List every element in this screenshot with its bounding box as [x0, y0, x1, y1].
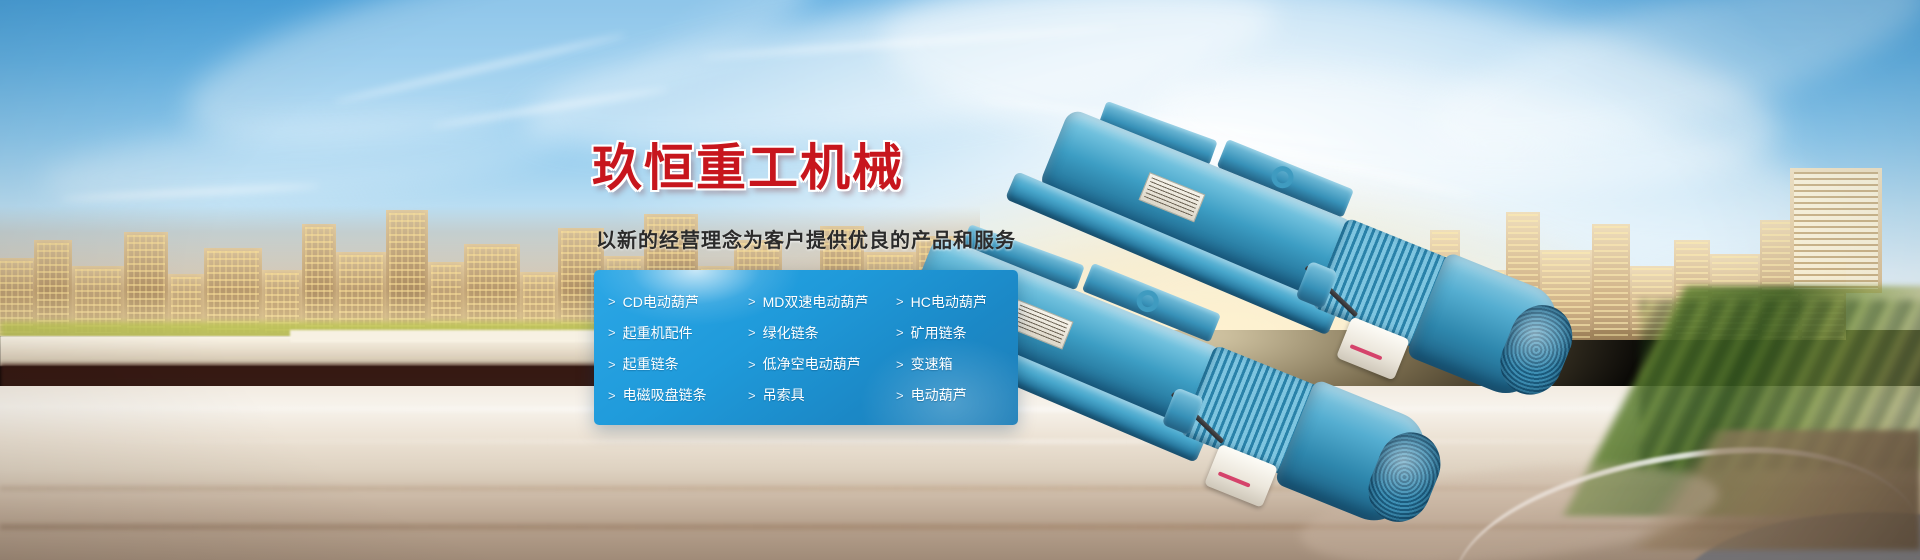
chevron-right-icon: > [896, 389, 904, 402]
product-link[interactable]: >绿化链条 [748, 323, 896, 343]
product-link[interactable]: >电动葫芦 [896, 385, 1018, 405]
chevron-right-icon: > [608, 326, 616, 339]
product-link[interactable]: >电磁吸盘链条 [608, 385, 748, 405]
product-link-label: 矿用链条 [911, 323, 967, 343]
product-link[interactable]: >CD电动葫芦 [608, 292, 748, 312]
product-link-label: 吊索具 [763, 385, 805, 405]
chevron-right-icon: > [748, 358, 756, 371]
product-link[interactable]: >低净空电动葫芦 [748, 354, 896, 374]
product-link-label: 低净空电动葫芦 [763, 354, 861, 374]
product-link-label: 电磁吸盘链条 [623, 385, 707, 405]
product-link-label: 绿化链条 [763, 323, 819, 343]
chevron-right-icon: > [608, 358, 616, 371]
product-link[interactable]: >MD双速电动葫芦 [748, 292, 896, 312]
chevron-right-icon: > [608, 295, 616, 308]
chevron-right-icon: > [748, 326, 756, 339]
product-link[interactable]: >变速箱 [896, 354, 1018, 374]
product-link[interactable]: >HC电动葫芦 [896, 292, 1018, 312]
product-link-label: MD双速电动葫芦 [763, 292, 869, 312]
product-links-grid: >CD电动葫芦>MD双速电动葫芦>HC电动葫芦>起重机配件>绿化链条>矿用链条>… [594, 270, 1018, 425]
product-link-label: 起重机配件 [623, 323, 693, 343]
product-link-label: 起重链条 [623, 354, 679, 374]
product-link[interactable]: >起重链条 [608, 354, 748, 374]
banner-subtitle: 以新的经营理念为客户提供优良的产品和服务 [596, 224, 1016, 253]
product-link[interactable]: >吊索具 [748, 385, 896, 405]
product-link-label: HC电动葫芦 [911, 292, 987, 312]
product-link[interactable]: >矿用链条 [896, 323, 1018, 343]
chevron-right-icon: > [748, 389, 756, 402]
product-link-label: 变速箱 [911, 354, 953, 374]
product-link-label: 电动葫芦 [911, 385, 967, 405]
chevron-right-icon: > [748, 295, 756, 308]
banner-title: 玖恒重工机械 [592, 142, 904, 195]
product-link[interactable]: >起重机配件 [608, 323, 748, 343]
product-links-panel: >CD电动葫芦>MD双速电动葫芦>HC电动葫芦>起重机配件>绿化链条>矿用链条>… [594, 270, 1018, 425]
chevron-right-icon: > [896, 326, 904, 339]
high-rise-tower [1790, 168, 1882, 293]
chevron-right-icon: > [608, 389, 616, 402]
chevron-right-icon: > [896, 358, 904, 371]
product-link-label: CD电动葫芦 [623, 292, 699, 312]
chevron-right-icon: > [896, 295, 904, 308]
promo-banner: 玖恒重工机械 以新的经营理念为客户提供优良的产品和服务 >CD电动葫芦>MD双速… [0, 0, 1920, 560]
